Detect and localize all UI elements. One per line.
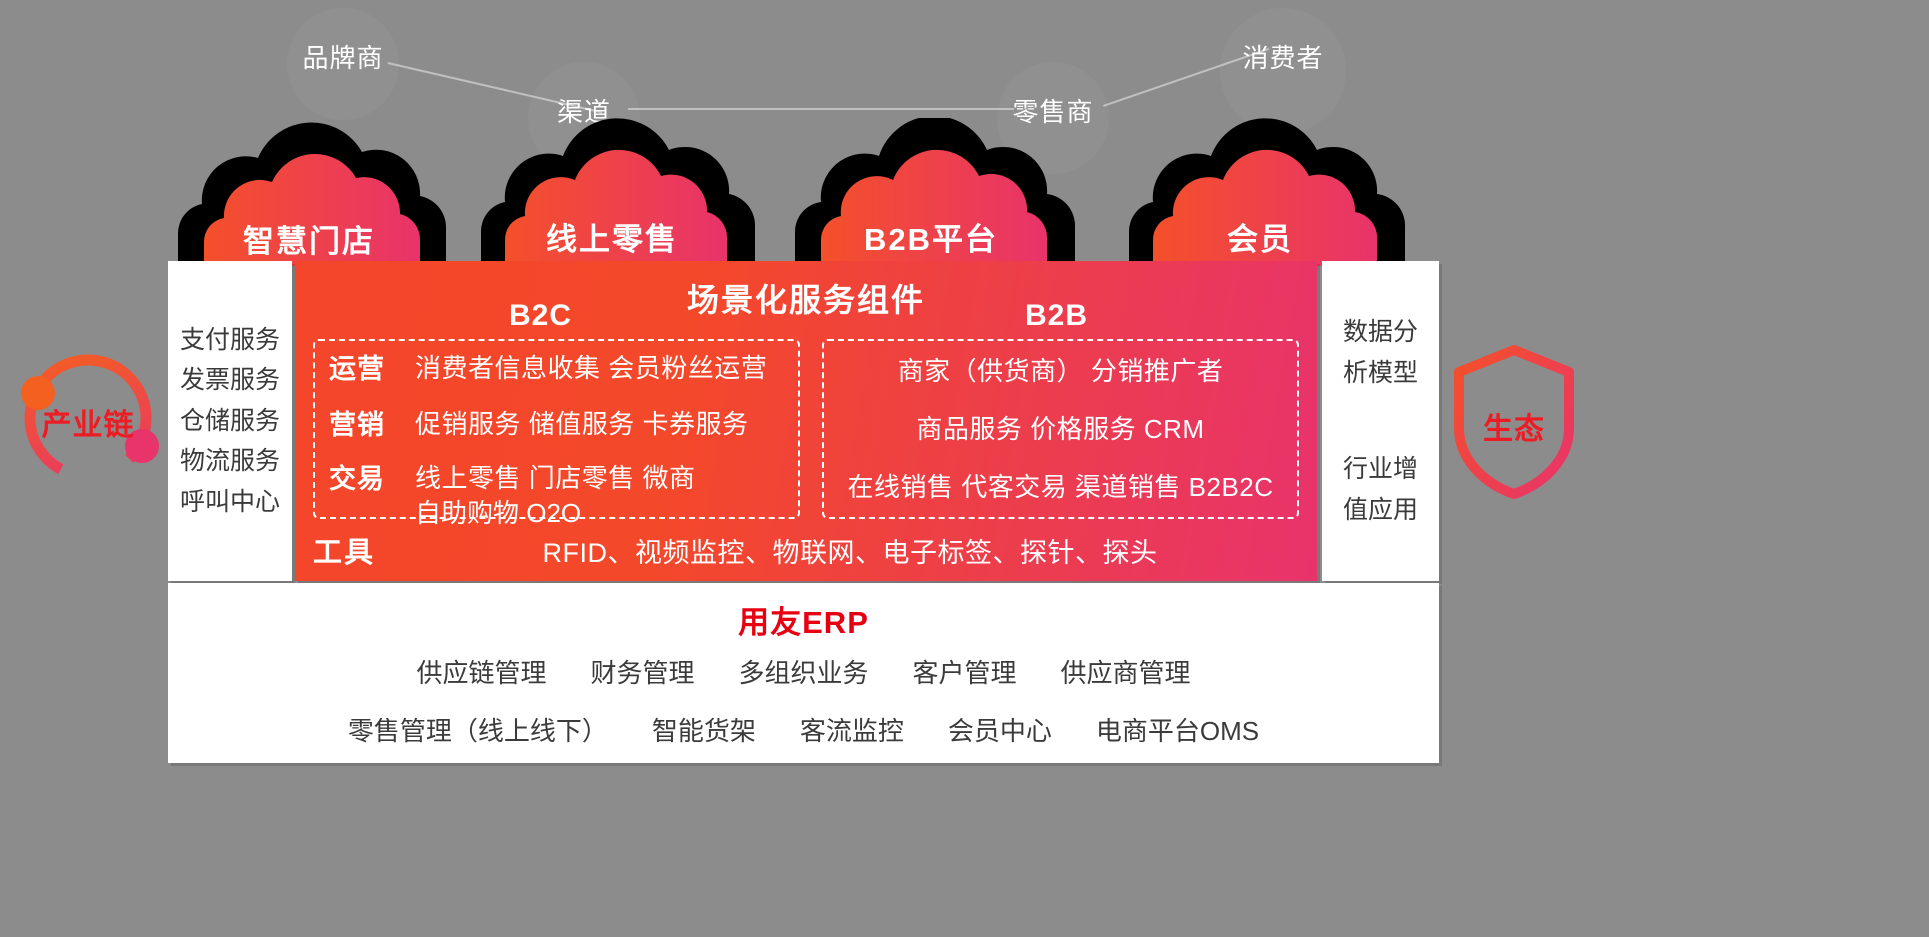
b2c-row-marketing: 营销 促销服务 储值服务 卡券服务 bbox=[329, 403, 748, 442]
erp-item-r2-0: 零售管理（线上线下） bbox=[348, 711, 608, 748]
role-label-consumer: 消费者 bbox=[1220, 38, 1346, 75]
b2c-row-operations: 运营 消费者信息收集 会员粉丝运营 bbox=[329, 347, 767, 386]
badge-ecosystem-label: 生态 bbox=[1443, 404, 1585, 448]
b2c-tag: B2C bbox=[509, 299, 572, 333]
left-service-item-4: 呼叫中心 bbox=[180, 482, 280, 523]
erp-panel: 用友ERP 供应链管理 财务管理 多组织业务 客户管理 供应商管理 零售管理（线… bbox=[168, 583, 1439, 763]
panel-title: 场景化服务组件 bbox=[295, 275, 1317, 321]
erp-title: 用友ERP bbox=[168, 597, 1439, 642]
b2c-row-transaction-value2: 自助购物 O2O bbox=[415, 493, 581, 530]
right-group-industry-app: 行业增 值应用 bbox=[1343, 449, 1418, 530]
tools-row: 工具 RFID、视频监控、物联网、电子标签、探针、探头 bbox=[313, 529, 1299, 571]
right-analytics-panel: 数据分 析模型 行业增 值应用 bbox=[1322, 261, 1439, 581]
diagram-canvas: 品牌商 渠道 零售商 消费者 智慧门店 bbox=[0, 0, 1929, 937]
erp-item-r1-1: 财务管理 bbox=[590, 653, 694, 690]
cloud-online-retail[interactable]: 线上零售 bbox=[471, 118, 785, 266]
b2c-row-transaction-value: 线上零售 门店零售 微商 bbox=[415, 458, 695, 495]
erp-item-r2-1: 智能货架 bbox=[652, 711, 756, 748]
role-label-brand: 品牌商 bbox=[287, 38, 399, 75]
erp-row-2: 零售管理（线上线下） 智能货架 客流监控 会员中心 电商平台OMS bbox=[168, 711, 1439, 748]
scenario-service-components-panel: 场景化服务组件 B2C B2B 运营 消费者信息收集 会员粉丝运营 营销 促销服… bbox=[295, 261, 1317, 581]
erp-item-r1-3: 客户管理 bbox=[913, 653, 1017, 690]
right-item-b0: 行业增 bbox=[1343, 449, 1418, 490]
cloud-b2b-platform[interactable]: B2B平台 bbox=[789, 118, 1109, 266]
right-item-a0: 数据分 bbox=[1343, 312, 1418, 353]
left-service-item-0: 支付服务 bbox=[180, 320, 280, 361]
leader-line-channel-retailer bbox=[628, 108, 1014, 110]
cloud-label-member: 会员 bbox=[1101, 214, 1419, 259]
erp-item-r2-3: 会员中心 bbox=[948, 711, 1052, 748]
b2b-line-1: 商品服务 价格服务 CRM bbox=[822, 409, 1299, 446]
tools-row-label: 工具 bbox=[313, 529, 401, 571]
b2b-line-2: 在线销售 代客交易 渠道销售 B2B2C bbox=[822, 467, 1299, 504]
erp-item-r1-0: 供应链管理 bbox=[416, 653, 546, 690]
b2c-row-marketing-value: 促销服务 储值服务 卡券服务 bbox=[415, 404, 748, 441]
badge-industry-chain-label: 产业链 bbox=[8, 400, 168, 444]
right-group-data-model: 数据分 析模型 bbox=[1343, 312, 1418, 393]
b2b-line-0: 商家（供货商） 分销推广者 bbox=[822, 351, 1299, 388]
b2c-row-marketing-label: 营销 bbox=[329, 403, 415, 442]
erp-row-1: 供应链管理 财务管理 多组织业务 客户管理 供应商管理 bbox=[168, 653, 1439, 690]
badge-industry-chain[interactable]: 产业链 bbox=[8, 338, 168, 498]
left-service-item-1: 发票服务 bbox=[180, 360, 280, 401]
cloud-member[interactable]: 会员 bbox=[1115, 118, 1433, 266]
b2c-row-transaction: 交易 线上零售 门店零售 微商 bbox=[329, 457, 695, 496]
cloud-label-b2b-platform: B2B平台 bbox=[771, 214, 1091, 259]
erp-item-r1-4: 供应商管理 bbox=[1061, 653, 1191, 690]
erp-item-r2-4: 电商平台OMS bbox=[1096, 711, 1259, 748]
cloud-label-online-retail: 线上零售 bbox=[455, 214, 769, 259]
cloud-label-smart-store: 智慧门店 bbox=[148, 216, 470, 261]
b2b-tag: B2B bbox=[1025, 299, 1088, 333]
erp-item-r2-2: 客流监控 bbox=[800, 711, 904, 748]
left-service-item-3: 物流服务 bbox=[180, 441, 280, 482]
left-service-item-2: 仓储服务 bbox=[180, 401, 280, 442]
right-item-a1: 析模型 bbox=[1343, 353, 1418, 394]
b2c-row-transaction-label: 交易 bbox=[329, 457, 415, 496]
right-item-b1: 值应用 bbox=[1343, 490, 1418, 531]
b2c-row-operations-value: 消费者信息收集 会员粉丝运营 bbox=[415, 348, 767, 385]
erp-item-r1-2: 多组织业务 bbox=[738, 653, 868, 690]
left-services-panel: 支付服务 发票服务 仓储服务 物流服务 呼叫中心 bbox=[168, 261, 292, 581]
badge-ecosystem[interactable]: 生态 bbox=[1443, 342, 1585, 502]
tools-row-value: RFID、视频监控、物联网、电子标签、探针、探头 bbox=[401, 531, 1299, 570]
cloud-smart-store[interactable]: 智慧门店 bbox=[148, 118, 470, 266]
b2c-row-operations-label: 运营 bbox=[329, 347, 415, 386]
